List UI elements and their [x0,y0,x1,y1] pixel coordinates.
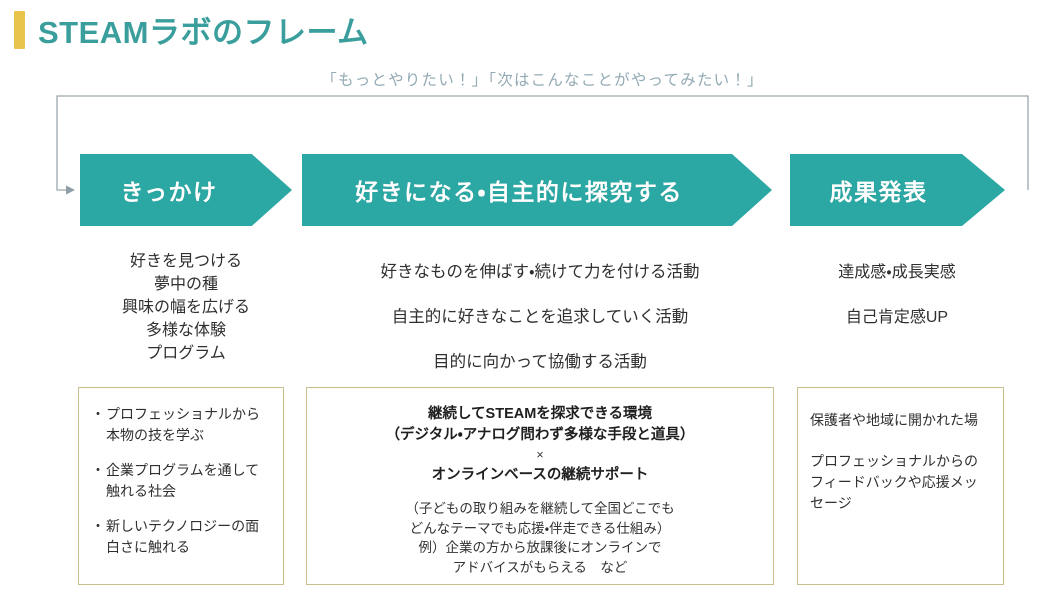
page-title-row: STEAMラボのフレーム [14,7,369,52]
page-title: STEAMラボのフレーム [38,7,369,52]
stage-3-description-line: 自己肯定感UP [782,295,1012,340]
stage-2-description-line: 好きなものを伸ばす・続けて力を付ける活動 [310,250,770,295]
stage-1-description-line: 夢中の種 [62,273,310,296]
detail-box-left-list: ・ プロフェッショナルから本物の技を学ぶ ・ 企業プログラムを通して触れる社会 … [79,388,283,558]
detail-box-left: ・ プロフェッショナルから本物の技を学ぶ ・ 企業プログラムを通して触れる社会 … [78,387,284,585]
stage-1-description-line: 興味の幅を広げる [62,296,310,319]
right-paragraph: 保護者や地域に開かれた場 [810,410,991,431]
center-note-line: アドバイスがもらえる など [319,558,761,578]
detail-box-center: 継続してSTEAMを探求できる環境 （デジタル・アナログ問わず多様な手段と道具）… [306,387,774,585]
detail-box-right-inner: 保護者や地域に開かれた場 プロフェッショナルからのフィードバックや応援メッセージ [798,388,1003,514]
stage-1-description-line: 好きを見つける [62,250,310,273]
center-heading-line-1: 継続してSTEAMを探求できる環境 [319,404,761,425]
right-paragraph: プロフェッショナルからのフィードバックや応援メッセージ [810,451,991,514]
list-item-label: プロフェッショナルから本物の技を学ぶ [106,404,273,446]
stage-chevron-1[interactable]: きっかけ [80,154,292,226]
subtitle-quote: 「もっとやりたい！」「次はこんなことがやってみたい！」 [0,68,1045,90]
detail-box-center-inner: 継続してSTEAMを探求できる環境 （デジタル・アナログ問わず多様な手段と道具）… [307,388,773,577]
stage-2-description-line: 目的に向かって協働する活動 [310,340,770,385]
stage-chevron-3[interactable]: 成果発表 [790,154,1005,226]
stage-3-description: 達成感・成長実感 自己肯定感UP [782,250,1012,340]
list-item-label: 企業プログラムを通して触れる社会 [106,460,273,502]
bullet-icon: ・ [91,404,105,425]
center-heading-line-2: （デジタル・アナログ問わず多様な手段と道具） [319,425,761,446]
stage-2-description: 好きなものを伸ばす・続けて力を付ける活動 自主的に好きなことを追求していく活動 … [310,250,770,385]
stage-chevron-1-label: きっかけ [120,173,217,207]
title-accent-bar [14,11,25,49]
center-note-line: どんなテーマでも応援・伴走できる仕組み） [319,519,761,539]
list-item: ・ プロフェッショナルから本物の技を学ぶ [91,404,273,446]
center-heading-line-3: オンラインベースの継続サポート [319,465,761,486]
slide-canvas: STEAMラボのフレーム 「もっとやりたい！」「次はこんなことがやってみたい！」… [0,0,1045,611]
detail-box-right: 保護者や地域に開かれた場 プロフェッショナルからのフィードバックや応援メッセージ [797,387,1004,585]
list-item-label: 新しいテクノロジーの面白さに触れる [106,516,273,558]
bullet-icon: ・ [91,516,105,537]
stage-2-description-line: 自主的に好きなことを追求していく活動 [310,295,770,340]
multiply-symbol: × [319,446,761,465]
center-note-line: 例）企業の方から放課後にオンラインで [319,538,761,558]
center-note: （子どもの取り組みを継続して全国どこでも どんなテーマでも応援・伴走できる仕組み… [319,499,761,577]
stage-3-description-line: 達成感・成長実感 [782,250,1012,295]
list-item: ・ 企業プログラムを通して触れる社会 [91,460,273,502]
bullet-icon: ・ [91,460,105,481]
stage-1-description: 好きを見つける 夢中の種 興味の幅を広げる 多様な体験 プログラム [62,250,310,365]
stage-chevron-2-label: 好きになる・自主的に探究する [355,173,683,207]
stage-1-description-line: 多様な体験 [62,319,310,342]
stage-1-description-line: プログラム [62,342,310,365]
list-item: ・ 新しいテクノロジーの面白さに触れる [91,516,273,558]
center-note-line: （子どもの取り組みを継続して全国どこでも [319,499,761,519]
stage-chevron-2[interactable]: 好きになる・自主的に探究する [302,154,772,226]
stage-chevron-3-label: 成果発表 [830,173,928,207]
